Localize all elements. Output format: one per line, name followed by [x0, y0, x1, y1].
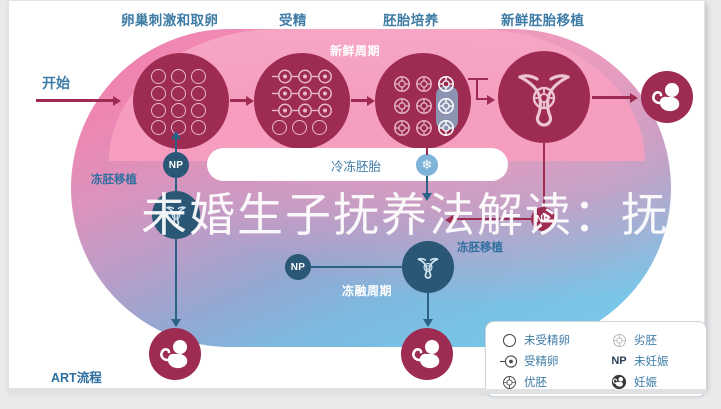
- fertilized-egg-icon: [498, 354, 520, 369]
- unfertilized-egg-icon: [171, 86, 186, 101]
- good-embryo-icon: [393, 97, 415, 119]
- stage-circle-fresh-transfer: [498, 51, 590, 143]
- left-down-line: [175, 239, 177, 321]
- outcome-baby-fresh: [641, 71, 693, 123]
- stage-circle-oocyte-retrieval: [133, 53, 229, 149]
- stage-label-embryo-culture: 胚胎培养: [383, 9, 439, 29]
- pregnancy-icon: [608, 374, 630, 390]
- unfertilized-egg-icon: [272, 120, 287, 135]
- frozen-thaw-down-line: [427, 293, 429, 321]
- good-embryo-icon: [498, 375, 520, 390]
- legend-column-left: 未受精卵 受精卵 优胚: [498, 330, 570, 393]
- legend-label: 妊娠: [634, 374, 657, 390]
- diagram-card: 卵巢刺激和取卵 受精 胚胎培养 新鲜胚胎移植 新鲜周期 冻融周期 开始: [8, 0, 705, 389]
- legend-item: 受精卵: [498, 351, 570, 371]
- uterus-icon: [410, 249, 446, 285]
- fetus-icon: [647, 77, 687, 117]
- unfertilized-egg-icon: [191, 103, 206, 118]
- freeze-line-in: [426, 141, 428, 155]
- flow-arrow-line-3: [592, 96, 632, 99]
- snowflake-icon: ❄: [416, 154, 438, 176]
- unfertilized-egg-icon: [151, 103, 166, 118]
- fertilized-egg-icon: [312, 69, 332, 86]
- fertilized-egg-icon: [272, 86, 292, 103]
- legend-item: 优胚: [498, 372, 570, 392]
- stage-label-ovarian-stimulation: 卵巢刺激和取卵: [121, 9, 218, 29]
- screenshot-root: 卵巢刺激和取卵 受精 胚胎培养 新鲜胚胎移植 新鲜周期 冻融周期 开始: [0, 0, 721, 409]
- left-down-arrow: [171, 319, 181, 327]
- unfertilized-egg-icon: [312, 120, 327, 135]
- np-badge-lower: NP: [285, 254, 311, 280]
- frozen-thaw-uterus-circle: [402, 241, 454, 293]
- legend-column-right: 劣胚 NP 未妊娠 妊娠: [608, 330, 669, 393]
- band-label-fresh-cycle: 新鲜周期: [330, 42, 380, 59]
- np-text-icon: NP: [608, 355, 630, 367]
- unfertilized-egg-icon: [171, 103, 186, 118]
- unfertilized-egg-icon: [151, 120, 166, 135]
- unfertilized-egg-icon: [191, 120, 206, 135]
- start-arrow-head: [113, 96, 121, 106]
- embryo-grid: [393, 75, 459, 141]
- np-badge-left: NP: [163, 152, 189, 178]
- legend-label: 优胚: [524, 374, 547, 390]
- outcome-baby-left: [149, 328, 201, 380]
- unfertilized-egg-icon: [171, 69, 186, 84]
- fertilized-egg-icon: [272, 103, 292, 120]
- fertilized-egg-icon: [272, 69, 292, 86]
- good-embryo-icon: [415, 75, 437, 97]
- watermark-text: 未婚生子抚养法解读：抚: [141, 179, 669, 245]
- fertilization-grid: [272, 69, 332, 137]
- flow-arrow-head-1: [246, 96, 254, 106]
- elbow-line-v: [476, 78, 478, 99]
- legend-label: 劣胚: [634, 332, 657, 348]
- good-embryo-icon: [437, 75, 459, 97]
- start-arrow-line: [36, 99, 114, 102]
- good-embryo-icon: [393, 119, 415, 141]
- unfertilized-egg-icon: [191, 69, 206, 84]
- fertilized-egg-icon: [312, 103, 332, 120]
- good-embryo-icon: [415, 119, 437, 141]
- elbow-line-h-top: [468, 78, 488, 80]
- stage-circle-fertilization: [254, 53, 350, 149]
- frozen-embryo-label: 冷冻胚胎: [331, 156, 381, 175]
- poor-embryo-icon: [608, 333, 630, 348]
- left-np-arrow-up: [171, 131, 181, 139]
- fertilized-egg-icon: [292, 69, 312, 86]
- band-label-frozen-cycle: 冻融周期: [342, 282, 392, 299]
- stage-label-fresh-transfer: 新鲜胚胎移植: [501, 9, 584, 29]
- fetus-icon: [155, 334, 195, 374]
- good-embryo-icon: [393, 75, 415, 97]
- art-flow-label: ART流程: [51, 367, 102, 386]
- stage-label-fertilization: 受精: [279, 9, 307, 29]
- unfertilized-egg-icon: [191, 86, 206, 101]
- unfertilized-egg-icon: [151, 69, 166, 84]
- flow-arrow-head-2: [367, 96, 375, 106]
- legend-label: 受精卵: [524, 353, 559, 369]
- elbow-arrow-head: [487, 95, 495, 105]
- legend-item: 劣胚: [608, 330, 669, 350]
- uterus-icon: [498, 51, 590, 143]
- frozen-thaw-down-arrow: [423, 319, 433, 327]
- good-embryo-icon: [437, 97, 459, 119]
- outcome-baby-frozen: [401, 328, 453, 380]
- fertilized-egg-icon: [312, 86, 332, 103]
- side-label-frozen-transfer-left: 冻胚移植: [91, 171, 137, 187]
- legend-item: 未受精卵: [498, 330, 570, 350]
- start-label: 开始: [42, 73, 70, 93]
- legend-item: NP 未妊娠: [608, 351, 669, 371]
- fertilized-egg-icon: [292, 86, 312, 103]
- oocyte-grid: [151, 69, 211, 137]
- unfertilized-egg-icon: [292, 120, 307, 135]
- legend-item: 妊娠: [608, 372, 669, 392]
- np-lower-line: [310, 266, 402, 268]
- legend-label: 未受精卵: [524, 332, 570, 348]
- good-embryo-icon: [437, 119, 459, 141]
- stage-circle-embryo-culture: [375, 53, 471, 149]
- unfertilized-egg-icon: [498, 333, 520, 348]
- legend-label: 未妊娠: [634, 353, 669, 369]
- flow-arrow-head-3: [630, 93, 638, 103]
- good-embryo-icon: [415, 97, 437, 119]
- fertilized-egg-icon: [292, 103, 312, 120]
- legend-panel: 未受精卵 受精卵 优胚: [485, 321, 707, 397]
- fetus-icon: [407, 334, 447, 374]
- unfertilized-egg-icon: [151, 86, 166, 101]
